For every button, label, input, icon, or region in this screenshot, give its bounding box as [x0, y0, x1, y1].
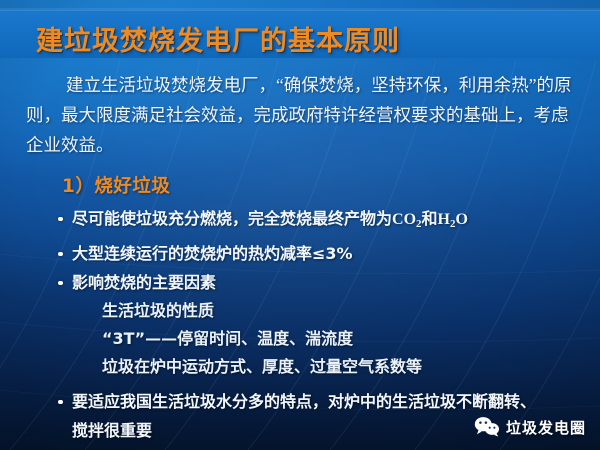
chem-h2o-symbol: H: [438, 211, 450, 228]
presentation-slide: 建垃圾焚烧发电厂的基本原则 建立生活垃圾焚烧发电厂，“确保焚烧，坚持环保，利用余…: [0, 0, 600, 450]
list-item: 尽可能使垃圾充分燃烧，完全焚烧最终产物为CO2和H2O: [56, 204, 586, 239]
intro-paragraph: 建立生活垃圾焚烧发电厂，“确保焚烧，坚持环保，利用余热”的原则，最大限度满足社会…: [26, 70, 578, 160]
sub-list-item: 生活垃圾的性质: [56, 297, 586, 325]
page-title: 建垃圾焚烧发电厂的基本原则: [36, 19, 400, 58]
title-banner: 建垃圾焚烧发电厂的基本原则: [0, 10, 600, 58]
wechat-icon: [474, 416, 500, 438]
watermark: 垃圾发电圈: [474, 416, 586, 438]
sub-list-item: “3T”——停留时间、温度、湍流度: [56, 325, 586, 353]
chem-h2o: H2O: [438, 211, 468, 228]
chem-co2: CO2: [392, 211, 422, 228]
chem-h2o-oxygen: O: [455, 211, 467, 228]
list-item: 大型连续运行的焚烧炉的热灼减率≤3%: [56, 239, 586, 268]
bullet-list: 尽可能使垃圾充分燃烧，完全焚烧最终产物为CO2和H2O 大型连续运行的焚烧炉的热…: [56, 204, 586, 445]
chem-co2-symbol: CO: [392, 211, 416, 228]
list-item: 要适应我国生活垃圾水分多的特点，对炉中的生活垃圾不断翻转、: [56, 387, 586, 416]
section-heading: 1）烧好垃圾: [62, 172, 170, 198]
bullet-text-mid: 和: [422, 209, 438, 228]
bullet-text: 尽可能使垃圾充分燃烧，完全焚烧最终产物为: [72, 209, 392, 228]
sub-list-item: 垃圾在炉中运动方式、厚度、过量空气系数等: [56, 353, 586, 381]
list-item: 影响焚烧的主要因素: [56, 268, 586, 297]
watermark-label: 垃圾发电圈: [506, 417, 586, 438]
